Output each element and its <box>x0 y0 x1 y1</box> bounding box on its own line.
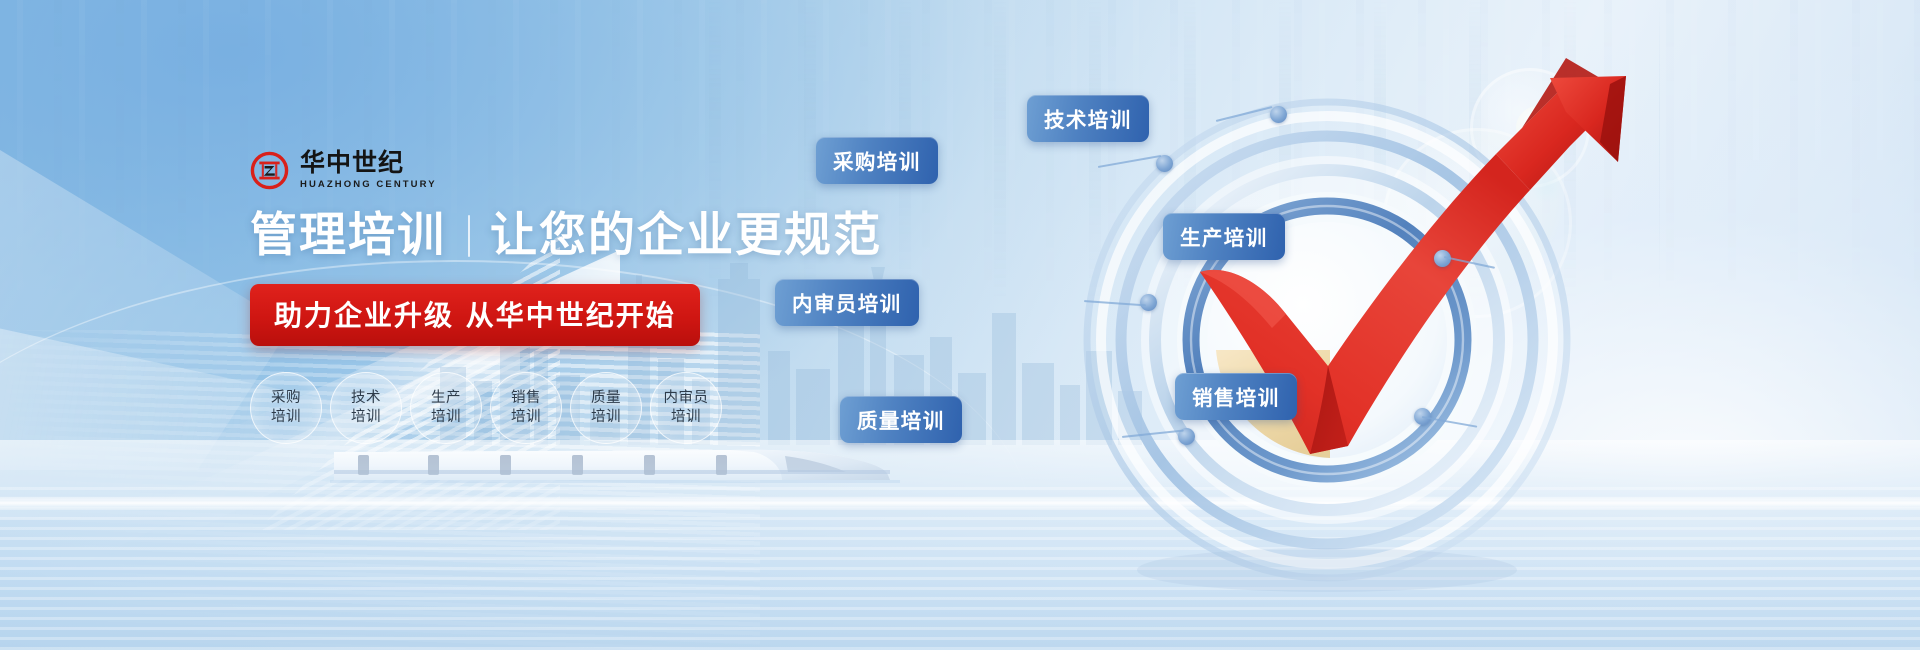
training-chip-shengchan[interactable]: 生产 培训 <box>410 372 482 444</box>
label-pill-neishenyuan[interactable]: 内审员培训 <box>775 279 919 326</box>
training-chip-jishu[interactable]: 技术 培训 <box>330 372 402 444</box>
label-pill-jishu[interactable]: 技术培训 <box>1027 95 1149 142</box>
chip-line-1: 质量 <box>591 389 621 408</box>
training-chip-xiaoshou[interactable]: 销售 培训 <box>490 372 562 444</box>
chip-line-1: 采购 <box>271 389 301 408</box>
connector-node-jishu <box>1270 106 1287 123</box>
chip-line-1: 内审员 <box>664 389 709 408</box>
page-title: 管理培训 让您的企业更规范 <box>250 210 890 262</box>
chip-line-1: 销售 <box>511 389 541 408</box>
chip-line-2: 培训 <box>591 408 621 427</box>
chip-line-2: 培训 <box>271 408 301 427</box>
brand-name-en: HUAZHONG CENTURY <box>300 179 437 190</box>
brand-name-cn: 华中世纪 <box>300 150 437 176</box>
company-emblem-icon <box>250 151 289 190</box>
training-chip-neishenyuan[interactable]: 内审员 培训 <box>650 372 722 444</box>
headline-divider <box>468 215 470 257</box>
training-chip-zhiliang[interactable]: 质量 培训 <box>570 372 642 444</box>
brand-logo[interactable]: 华中世纪 HUAZHONG CENTURY <box>250 150 890 190</box>
label-pill-xiaoshou[interactable]: 销售培训 <box>1175 373 1297 420</box>
headline-primary: 管理培训 <box>250 210 446 262</box>
slogan-badge: 助力企业升级 从华中世纪开始 <box>250 284 700 346</box>
training-chip-caigou[interactable]: 采购 培训 <box>250 372 322 444</box>
connector-node-neishen <box>1140 294 1157 311</box>
chip-line-1: 技术 <box>351 389 381 408</box>
chip-line-2: 培训 <box>671 408 701 427</box>
label-pill-zhiliang[interactable]: 质量培训 <box>840 396 962 443</box>
training-chip-row: 采购 培训 技术 培训 生产 培训 销售 培训 质量 培训 内审员 培训 <box>250 372 890 444</box>
connector-node-caigou <box>1156 155 1173 172</box>
headline-secondary: 让您的企业更规范 <box>490 210 882 262</box>
chip-line-2: 培训 <box>431 408 461 427</box>
chip-line-2: 培训 <box>511 408 541 427</box>
promo-banner: 华中世纪 HUAZHONG CENTURY 管理培训 让您的企业更规范 助力企业… <box>0 0 1920 650</box>
label-pill-caigou[interactable]: 采购培训 <box>816 137 938 184</box>
chip-line-1: 生产 <box>431 389 461 408</box>
chip-line-2: 培训 <box>351 408 381 427</box>
label-pill-shengchan[interactable]: 生产培训 <box>1163 213 1285 260</box>
brand-name-group: 华中世纪 HUAZHONG CENTURY <box>300 150 437 190</box>
